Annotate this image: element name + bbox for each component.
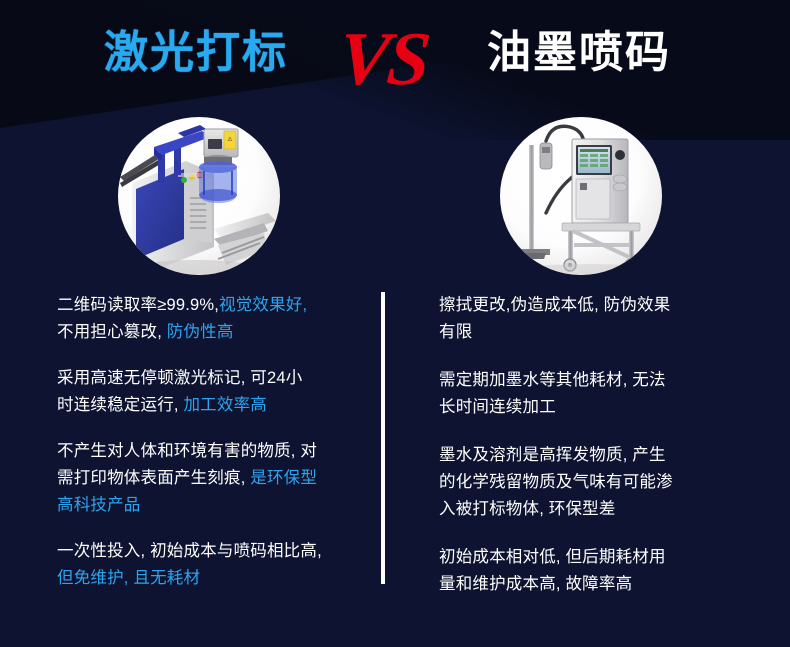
poster-header: 激光打标 VS 油墨喷码 <box>0 22 790 100</box>
feature-text-highlight: 防伪性高 <box>167 323 234 341</box>
feature-text: 需打印物体表面产生刻痕, <box>57 469 250 487</box>
feature-row-efficiency: 需定期加墨水等其他耗材, 无法长时间连续加工 <box>439 367 739 421</box>
vs-label: VS <box>334 16 432 102</box>
right-product-title: 油墨喷码 <box>487 22 671 84</box>
feature-text: 量和维护成本高, 故障率高 <box>439 575 632 593</box>
feature-text-highlight: 是环保型 <box>250 469 317 487</box>
feature-row-environment: 不产生对人体和环境有害的物质, 对需打印物体表面产生刻痕, 是环保型高科技产品 <box>57 438 357 519</box>
feature-text: 时连续稳定运行, <box>57 396 183 414</box>
feature-text: 初始成本相对低, 但后期耗材用 <box>439 548 666 566</box>
feature-text: 需定期加墨水等其他耗材, 无法 <box>439 371 666 389</box>
feature-text: 一次性投入, 初始成本与喷码相比高, <box>57 542 322 560</box>
feature-row-efficiency: 采用高速无停顿激光标记, 可24小时连续稳定运行, 加工效率高 <box>57 365 357 419</box>
feature-text-highlight: 加工效率高 <box>183 396 267 414</box>
feature-text: 二维码读取率≥99.9%, <box>57 296 219 314</box>
feature-text-highlight: 视觉效果好, <box>219 296 307 314</box>
column-divider <box>381 292 385 584</box>
feature-text-highlight: 高科技产品 <box>57 496 141 514</box>
inkjet-coding-feature-list: 擦拭更改,伪造成本低, 防伪效果有限 需定期加墨水等其他耗材, 无法长时间连续加… <box>439 292 739 619</box>
laser-marking-machine-photo: ⚠ <box>118 117 280 275</box>
feature-text: 入被打标物体, 环保型差 <box>439 500 616 518</box>
inkjet-coding-machine-photo <box>500 117 662 275</box>
feature-row-cost: 一次性投入, 初始成本与喷码相比高,但免维护, 且无耗材 <box>57 538 357 592</box>
svg-text:⚠: ⚠ <box>227 136 233 143</box>
feature-text: 的化学残留物质及气味有可能渗 <box>439 473 673 491</box>
feature-text: 采用高速无停顿激光标记, 可24小 <box>57 369 302 387</box>
feature-text: 不用担心篡改, <box>57 323 167 341</box>
feature-row-anti-counterfeit: 擦拭更改,伪造成本低, 防伪效果有限 <box>439 292 739 346</box>
comparison-poster: 激光打标 VS 油墨喷码 <box>0 0 790 647</box>
feature-text: 擦拭更改,伪造成本低, 防伪效果 <box>439 296 670 314</box>
feature-row-environment: 墨水及溶剂是高挥发物质, 产生的化学残留物质及气味有可能渗入被打标物体, 环保型… <box>439 442 739 523</box>
feature-text-highlight: 但免维护, 且无耗材 <box>57 569 200 587</box>
feature-row-cost: 初始成本相对低, 但后期耗材用量和维护成本高, 故障率高 <box>439 544 739 598</box>
left-product-title: 激光打标 <box>104 22 288 84</box>
feature-row-anti-counterfeit: 二维码读取率≥99.9%,视觉效果好,不用担心篡改, 防伪性高 <box>57 292 357 346</box>
feature-text: 不产生对人体和环境有害的物质, 对 <box>57 442 317 460</box>
feature-text: 墨水及溶剂是高挥发物质, 产生 <box>439 446 666 464</box>
laser-marking-feature-list: 二维码读取率≥99.9%,视觉效果好,不用担心篡改, 防伪性高 采用高速无停顿激… <box>57 292 357 611</box>
feature-text: 长时间连续加工 <box>439 398 556 416</box>
feature-text: 有限 <box>439 323 472 341</box>
